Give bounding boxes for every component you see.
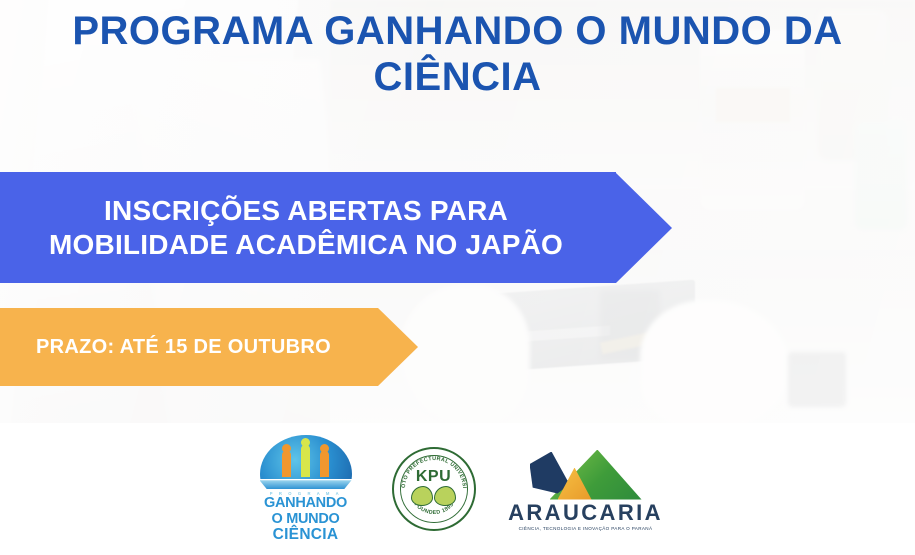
logo-ganhando-o-mundo-ciencia: P R O G R A M A GANHANDO O MUNDO CIÊNCIA [254, 435, 358, 543]
banner-inscriptions-text: INSCRIÇÕES ABERTAS PARA MOBILIDADE ACADÊ… [0, 194, 616, 262]
logo-kpu: KYOTO PREFECTURAL UNIVERSITY FOUNDED 189… [392, 447, 476, 531]
figure-icon-center [301, 445, 310, 477]
logo-araucaria: ARAUCARIA CIÊNCIA, TECNOLOGIA E INOVAÇÃO… [510, 448, 662, 531]
banner-deadline: PRAZO: ATÉ 15 DE OUTUBRO [0, 308, 418, 386]
kpu-leaves-icon [411, 486, 456, 506]
leaf-icon-left [411, 486, 433, 506]
logo-line-ganhando: GANHANDO [264, 496, 347, 511]
banner-deadline-arrow-tip [378, 308, 418, 386]
araucaria-mountain-icon [524, 448, 648, 500]
banner-inscriptions-body: INSCRIÇÕES ABERTAS PARA MOBILIDADE ACADÊ… [0, 172, 616, 283]
footer-logo-strip: P R O G R A M A GANHANDO O MUNDO CIÊNCIA… [0, 423, 915, 555]
mountain-dark [530, 452, 570, 494]
kpu-seal-inner: KPU [400, 455, 468, 523]
leaf-icon-right [434, 486, 456, 506]
figure-icon-right [320, 451, 329, 477]
figure-icon-left [282, 451, 291, 477]
poster: PROGRAMA GANHANDO O MUNDO DA CIÊNCIA INS… [0, 0, 915, 555]
banner-inscriptions: INSCRIÇÕES ABERTAS PARA MOBILIDADE ACADÊ… [0, 172, 672, 283]
banner-inscriptions-line-2: MOBILIDADE ACADÊMICA NO JAPÃO [0, 228, 612, 262]
figure-head-center [301, 438, 310, 447]
kpu-acronym: KPU [416, 469, 451, 485]
globe-icon [260, 435, 352, 479]
logo-line-o-mundo: O MUNDO [272, 512, 340, 527]
banner-deadline-text: PRAZO: ATÉ 15 DE OUTUBRO [0, 336, 378, 359]
banner-inscriptions-arrow-tip [616, 173, 672, 283]
araucaria-title: ARAUCARIA [508, 502, 663, 524]
book-icon [260, 480, 352, 489]
banner-inscriptions-line-1: INSCRIÇÕES ABERTAS PARA [0, 194, 612, 228]
araucaria-tagline: CIÊNCIA, TECNOLOGIA E INOVAÇÃO PARA O PA… [519, 526, 653, 531]
figure-head-left [282, 444, 291, 453]
banner-deadline-body: PRAZO: ATÉ 15 DE OUTUBRO [0, 308, 378, 386]
logo-line-ciencia: CIÊNCIA [273, 527, 339, 543]
figure-head-right [320, 444, 329, 453]
